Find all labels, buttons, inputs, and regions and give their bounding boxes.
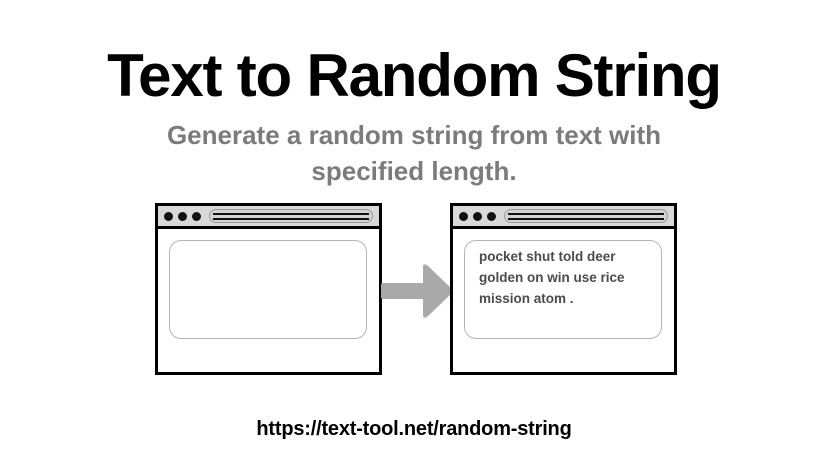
- result-text-output[interactable]: pocket shut told deer golden on win use …: [464, 240, 662, 339]
- maximize-dot-icon[interactable]: [487, 212, 496, 221]
- input-window-body: [158, 229, 379, 372]
- input-address-bar[interactable]: [209, 209, 373, 223]
- minimize-dot-icon[interactable]: [473, 212, 482, 221]
- result-text-value: pocket shut told deer golden on win use …: [479, 247, 654, 310]
- right-arrow-icon: [381, 262, 455, 320]
- address-line-icon: [213, 213, 369, 215]
- address-line-icon: [508, 213, 664, 215]
- page-subtitle: Generate a random string from text with …: [114, 118, 714, 190]
- maximize-dot-icon[interactable]: [192, 212, 201, 221]
- output-window-body: pocket shut told deer golden on win use …: [453, 229, 674, 372]
- output-window-dots: [459, 212, 496, 221]
- input-window-dots: [164, 212, 201, 221]
- close-dot-icon[interactable]: [459, 212, 468, 221]
- address-line-icon: [213, 218, 369, 220]
- output-address-bar[interactable]: [504, 209, 668, 223]
- output-window-titlebar: [453, 206, 674, 229]
- address-line-icon: [508, 218, 664, 220]
- minimize-dot-icon[interactable]: [178, 212, 187, 221]
- output-browser-window: pocket shut told deer golden on win use …: [450, 203, 677, 375]
- close-dot-icon[interactable]: [164, 212, 173, 221]
- page-title: Text to Random String: [0, 44, 828, 107]
- input-browser-window: [155, 203, 382, 375]
- slide-canvas: Text to Random String Generate a random …: [0, 0, 828, 466]
- input-window-titlebar: [158, 206, 379, 229]
- right-arrow-svg: [381, 262, 455, 320]
- source-text-input[interactable]: [169, 240, 367, 339]
- footer-url[interactable]: https://text-tool.net/random-string: [0, 418, 828, 441]
